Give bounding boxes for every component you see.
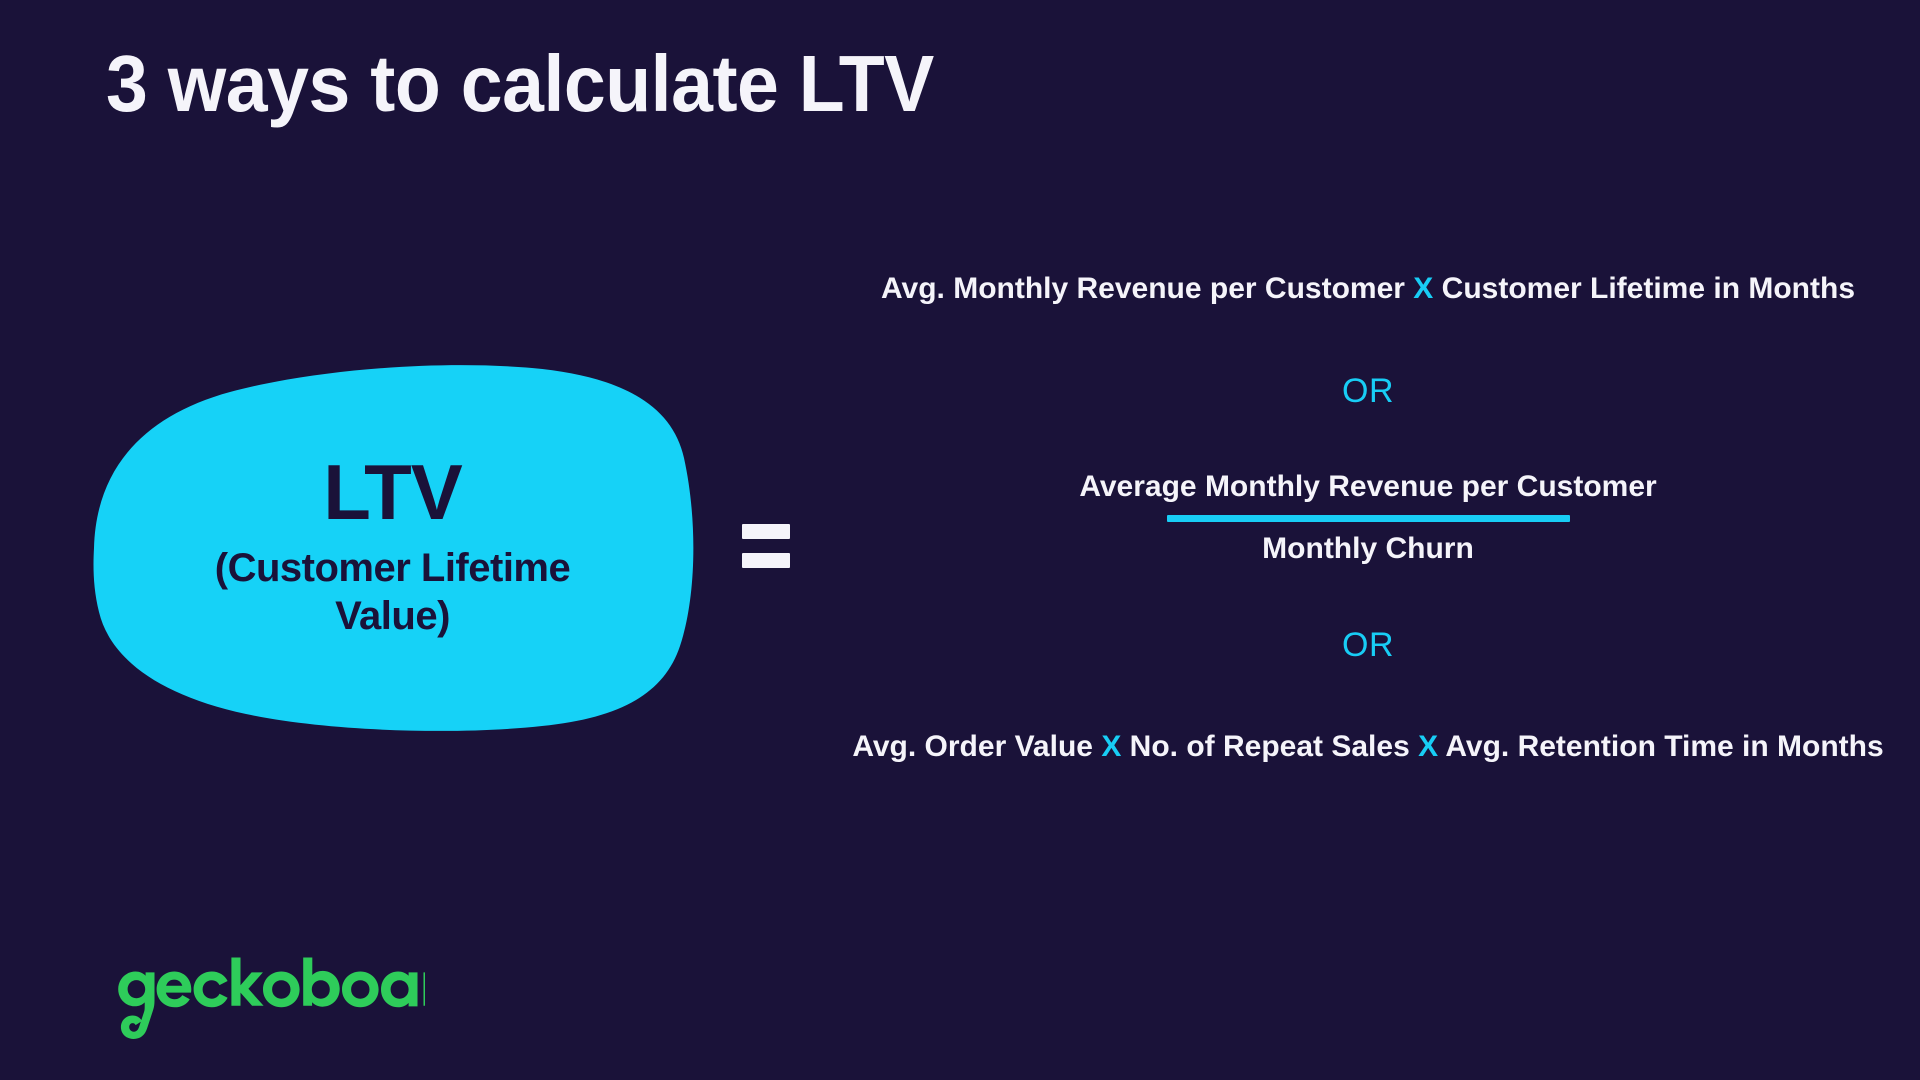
formula-3-term-2: No. of Repeat Sales xyxy=(1130,730,1410,763)
equals-bar-top xyxy=(742,524,790,539)
formula-1-term-2: Customer Lifetime in Months xyxy=(1442,272,1855,305)
formula-1-term-1: Avg. Monthly Revenue per Customer xyxy=(881,272,1405,305)
formula-method-3: Avg. Order Value X No. of Repeat Sales X… xyxy=(852,730,1883,764)
formula-1-operator-1: X xyxy=(1413,272,1433,305)
formula-column: Avg. Monthly Revenue per Customer X Cust… xyxy=(820,230,1916,764)
or-separator-2: OR xyxy=(1342,628,1394,662)
page-title: 3 ways to calculate LTV xyxy=(106,40,934,128)
slide-canvas: 3 ways to calculate LTV LTV (Customer Li… xyxy=(0,0,1920,1080)
formula-method-2: Average Monthly Revenue per Customer Mon… xyxy=(1079,470,1656,565)
blob-text-group: LTV (Customer Lifetime Value) xyxy=(80,350,705,735)
ltv-abbreviation: LTV xyxy=(323,453,462,531)
fraction-divider-bar xyxy=(1167,515,1570,522)
formula-method-1: Avg. Monthly Revenue per Customer X Cust… xyxy=(881,272,1855,306)
formula-3-term-1: Avg. Order Value xyxy=(852,730,1093,763)
formula-3-operator-2: X xyxy=(1418,730,1438,763)
fraction-numerator: Average Monthly Revenue per Customer xyxy=(1079,470,1656,503)
geckoboard-wordmark-icon xyxy=(105,955,425,1050)
equals-bar-bottom xyxy=(742,553,790,568)
formula-3-operator-1: X xyxy=(1101,730,1121,763)
ltv-result-blob: LTV (Customer Lifetime Value) xyxy=(80,350,705,735)
geckoboard-logo xyxy=(105,955,425,1050)
equals-sign xyxy=(742,524,790,568)
fraction-denominator: Monthly Churn xyxy=(1262,532,1474,565)
ltv-full-name: (Customer Lifetime Value) xyxy=(173,545,613,639)
formula-3-term-3: Avg. Retention Time in Months xyxy=(1445,730,1883,763)
or-separator-1: OR xyxy=(1342,374,1394,408)
